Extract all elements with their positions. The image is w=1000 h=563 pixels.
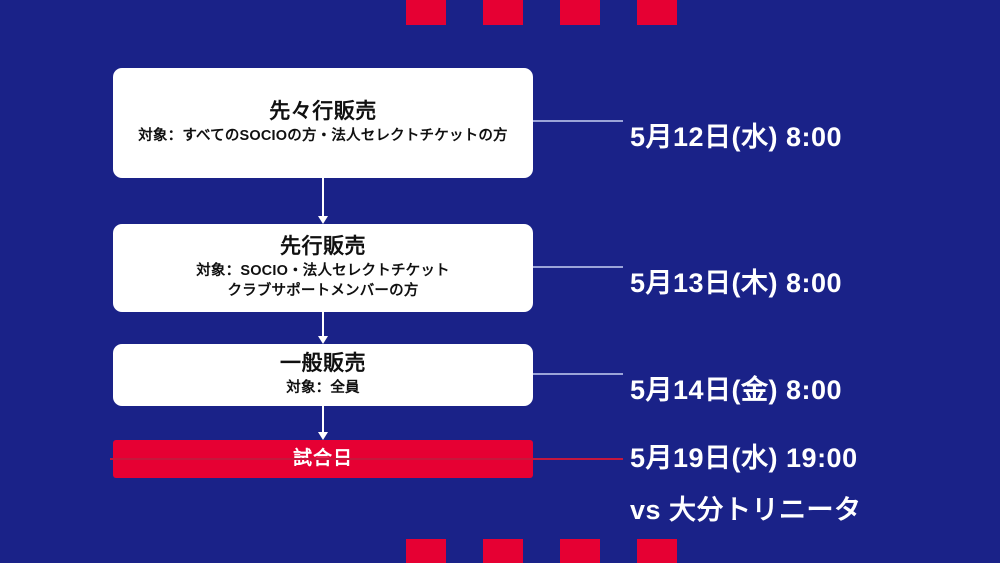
sales-schedule-flow: 先々行販売 対象：すべてのSOCIOの方・法人セレクトチケットの方 先行販売 対… [0,0,1000,563]
step-subtitle: 対象：全員 [286,379,360,398]
schedule-step-presale: 先行販売 対象：SOCIO・法人セレクトチケット クラブサポートメンバーの方 [113,224,533,312]
decorative-dash [406,539,446,563]
date-text: 5月14日(金) 8:00 [630,374,842,408]
step-subtitle: 対象：SOCIO・法人セレクトチケット クラブサポートメンバーの方 [196,262,450,300]
date-match-day: 5月19日(水) 19:00 vs 大分トリニータ [630,424,862,546]
lead-line-general-sale [533,373,623,375]
date-text: 5月13日(木) 8:00 [630,267,842,301]
step-title: 先行販売 [280,235,366,259]
schedule-step-general-sale: 一般販売 対象：全員 [113,344,533,406]
down-arrow-icon [322,312,324,337]
bottom-decorative-dash-strip [406,539,677,563]
step-title: 一般販売 [280,352,366,376]
lead-line-match-day [110,458,623,460]
date-general-sale: 5月14日(金) 8:00 [630,356,842,426]
down-arrow-icon [322,178,324,217]
lead-line-presale [533,266,623,268]
schedule-step-advance-presale: 先々行販売 対象：すべてのSOCIOの方・法人セレクトチケットの方 [113,68,533,178]
step-subtitle: 対象：すべてのSOCIOの方・法人セレクトチケットの方 [138,127,508,146]
opponent-text: vs 大分トリニータ [630,494,862,528]
date-text: 5月19日(水) 19:00 [630,442,862,476]
date-text: 5月12日(水) 8:00 [630,121,842,155]
date-presale: 5月13日(木) 8:00 [630,249,842,319]
decorative-dash [560,539,600,563]
decorative-dash [483,539,523,563]
lead-line-advance-presale [533,120,623,122]
step-title: 先々行販売 [269,100,377,124]
date-advance-presale: 5月12日(水) 8:00 [630,103,842,173]
decorative-dash [637,539,677,563]
down-arrow-icon [322,406,324,433]
